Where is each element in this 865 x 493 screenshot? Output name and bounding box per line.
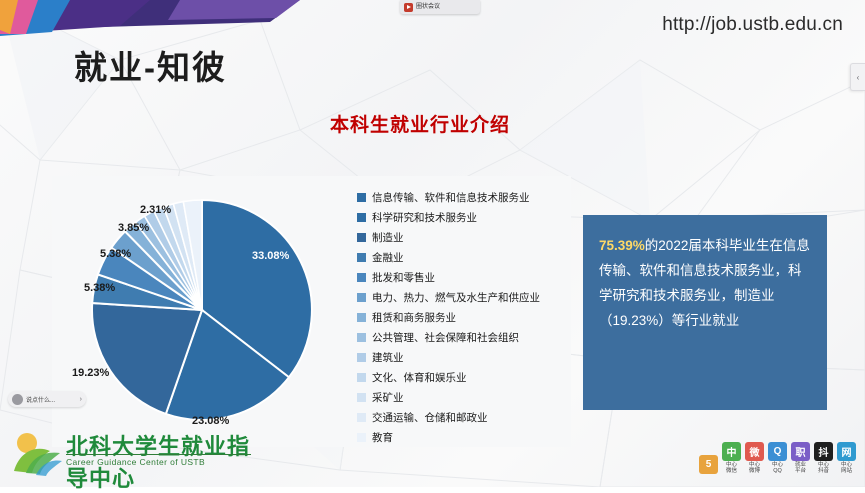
footer-icon-item[interactable]: 网 中心网站 <box>836 442 857 474</box>
legend-item: 金融业 <box>357 248 567 266</box>
legend-swatch-icon <box>357 193 366 202</box>
number-icon: 5 <box>699 455 718 474</box>
legend-label: 交通运输、仓储和邮政业 <box>372 410 488 425</box>
footer-icon-label: 中心QQ <box>772 462 783 474</box>
footer-icon-item[interactable]: 职 就业平台 <box>790 442 811 474</box>
comment-placeholder: 说点什么... <box>26 395 55 404</box>
legend-label: 教育 <box>372 430 393 445</box>
logo-divider <box>66 454 251 455</box>
legend-swatch-icon <box>357 213 366 222</box>
pie-label-5: 3.85% <box>118 222 149 234</box>
avatar-icon <box>12 394 23 405</box>
logo-title-en: Career Guidance Center of USTB <box>66 457 205 467</box>
footer-icon-label: 就业平台 <box>795 462 806 474</box>
legend-label: 信息传输、软件和信息技术服务业 <box>372 190 530 205</box>
legend-label: 批发和零售业 <box>372 270 435 285</box>
legend-item: 批发和零售业 <box>357 268 567 286</box>
legend-swatch-icon <box>357 373 366 382</box>
legend-swatch-icon <box>357 333 366 342</box>
legend-item: 文化、体育和娱乐业 <box>357 368 567 386</box>
panel-collapse-handle[interactable]: ‹ <box>850 63 865 91</box>
legend-label: 采矿业 <box>372 390 404 405</box>
footer-icon-item[interactable]: 抖 中心抖音 <box>813 442 834 474</box>
chart-legend: 信息传输、软件和信息技术服务业 科学研究和技术服务业 制造业 金融业 批发和零售… <box>357 188 567 446</box>
legend-item: 租赁和商务服务业 <box>357 308 567 326</box>
wechat-icon: 中 <box>722 442 741 461</box>
douyin-icon: 抖 <box>814 442 833 461</box>
legend-item: 教育 <box>357 428 567 446</box>
chevron-left-icon: ‹ <box>857 73 860 82</box>
legend-item: 制造业 <box>357 228 567 246</box>
legend-swatch-icon <box>357 433 366 442</box>
weibo-icon: 微 <box>745 442 764 461</box>
legend-item: 电力、热力、燃气及水生产和供应业 <box>357 288 567 306</box>
legend-label: 租赁和商务服务业 <box>372 310 456 325</box>
legend-item: 信息传输、软件和信息技术服务业 <box>357 188 567 206</box>
pie-chart: 33.08% 23.08% 19.23% 5.38% 5.38% 3.85% 2… <box>60 182 360 440</box>
legend-label: 公共管理、社会保障和社会组织 <box>372 330 519 345</box>
legend-label: 制造业 <box>372 230 404 245</box>
legend-swatch-icon <box>357 293 366 302</box>
recording-label: 圈状会议 <box>416 4 440 10</box>
legend-label: 电力、热力、燃气及水生产和供应业 <box>372 290 540 305</box>
legend-swatch-icon <box>357 233 366 242</box>
legend-item: 交通运输、仓储和邮政业 <box>357 408 567 426</box>
chart-title: 本科生就业行业介绍 <box>330 110 510 137</box>
footer-icon-label: 中心微信 <box>726 462 737 474</box>
legend-swatch-icon <box>357 253 366 262</box>
legend-item: 建筑业 <box>357 348 567 366</box>
pie-label-6: 2.31% <box>140 204 171 216</box>
legend-label: 科学研究和技术服务业 <box>372 210 477 225</box>
pie-label-4: 5.38% <box>100 248 131 260</box>
legend-item: 公共管理、社会保障和社会组织 <box>357 328 567 346</box>
pie-label-3: 5.38% <box>84 282 115 294</box>
recording-toolbar[interactable]: 圈状会议 <box>400 0 480 14</box>
callout-highlight: 75.39% <box>599 238 645 253</box>
legend-label: 金融业 <box>372 250 404 265</box>
legend-swatch-icon <box>357 413 366 422</box>
footer-icon-label: 中心网站 <box>841 462 852 474</box>
legend-swatch-icon <box>357 313 366 322</box>
legend-label: 文化、体育和娱乐业 <box>372 370 467 385</box>
legend-item: 采矿业 <box>357 388 567 406</box>
comment-input-pill[interactable]: 说点什么... › <box>8 391 86 407</box>
site-url: http://job.ustb.edu.cn <box>662 14 843 36</box>
page-title: 就业-知彼 <box>74 41 227 89</box>
legend-swatch-icon <box>357 273 366 282</box>
chart-container: 33.08% 23.08% 19.23% 5.38% 5.38% 3.85% 2… <box>52 176 571 447</box>
chevron-right-icon[interactable]: › <box>80 396 82 403</box>
site-icon: 网 <box>837 442 856 461</box>
footer-logo: 北科大学生就业指导中心 Career Guidance Center of US… <box>8 425 258 483</box>
legend-item: 科学研究和技术服务业 <box>357 208 567 226</box>
summary-callout: 75.39%的2022届本科毕业生在信息传输、软件和信息技术服务业，科学研究和技… <box>583 215 827 410</box>
footer-icon-item[interactable]: 中 中心微信 <box>721 442 742 474</box>
footer-icon-label: 中心微博 <box>749 462 760 474</box>
app-icon: 职 <box>791 442 810 461</box>
qq-icon: Q <box>768 442 787 461</box>
pie-label-2: 19.23% <box>72 367 109 379</box>
play-icon[interactable] <box>404 3 413 12</box>
footer-icon-label: 中心抖音 <box>818 462 829 474</box>
decorative-ribbon <box>0 0 300 40</box>
legend-swatch-icon <box>357 353 366 362</box>
footer-icon-strip: 5 中 中心微信 微 中心微博 Q 中心QQ 职 就业平台 抖 中心抖音 网 中… <box>698 440 857 474</box>
legend-swatch-icon <box>357 393 366 402</box>
legend-label: 建筑业 <box>372 350 404 365</box>
pie-label-0: 33.08% <box>252 250 289 262</box>
footer-icon-item[interactable]: 5 <box>698 455 719 474</box>
footer-icon-item[interactable]: Q 中心QQ <box>767 442 788 474</box>
footer-icon-item[interactable]: 微 中心微博 <box>744 442 765 474</box>
